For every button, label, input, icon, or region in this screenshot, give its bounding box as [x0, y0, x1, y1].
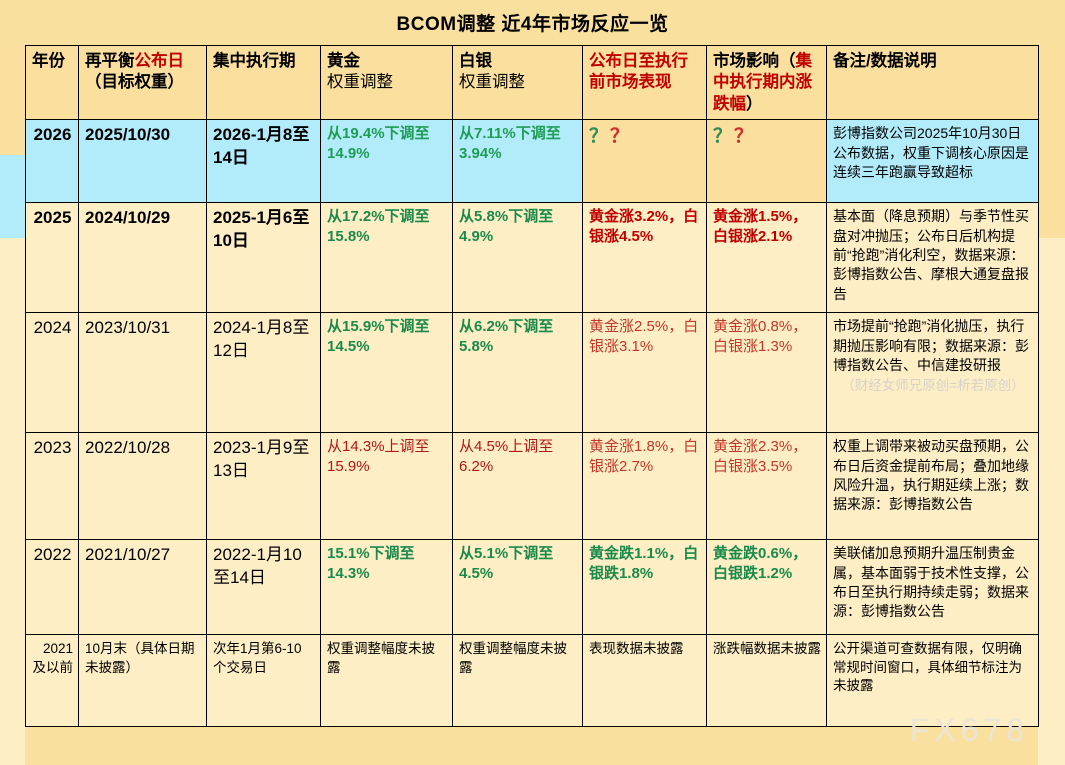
header-cell-pre-exec: 公布日至执行前市场表现	[583, 46, 707, 120]
gutter-strip-header	[0, 45, 25, 155]
table-row: 2024 2023/10/31 2024-1月8至12日 从15.9%下调至14…	[26, 313, 1039, 433]
cell-announce-date: 2024/10/29	[79, 203, 207, 313]
cell-impact: 黄金涨2.3%，白银涨3.5%	[707, 433, 827, 540]
cell-notes: 权重上调带来被动买盘预期，公布日后资金提前布局；叠加地缘风险升温，执行期延续上涨…	[827, 433, 1039, 540]
table-row: 2021及以前 10月末（具体日期未披露） 次年1月第6-10个交易日 权重调整…	[26, 635, 1039, 727]
cell-impact: 黄金涨0.8%，白银涨1.3%	[707, 313, 827, 433]
header-cell-silver: 白银权重调整	[453, 46, 583, 120]
cell-impact: ？？	[707, 120, 827, 203]
cell-notes: 彭博指数公司2025年10月30日公布数据，权重下调核心原因是连续三年跑赢导致超…	[827, 120, 1039, 203]
cell-silver-weight: 从5.1%下调至4.5%	[453, 540, 583, 635]
cell-year: 2025	[26, 203, 79, 313]
header-announce-red: 公布日	[135, 52, 185, 70]
cell-pre-exec: 黄金涨1.8%，白银涨2.7%	[583, 433, 707, 540]
gutter-strip-rest	[0, 238, 25, 765]
cell-silver-weight: 从5.8%下调至4.9%	[453, 203, 583, 313]
cell-pre-exec: 黄金跌1.1%，白银跌1.8%	[583, 540, 707, 635]
spreadsheet-area: 年份 再平衡公布日（目标权重） 集中执行期 黄金权重调整 白银权重调整 公布日至…	[0, 45, 1065, 765]
origin-watermark: （财经女师兄原创=析若原创）	[833, 377, 1033, 396]
cell-announce-date: 2023/10/31	[79, 313, 207, 433]
header-cell-gold: 黄金权重调整	[321, 46, 453, 120]
cell-exec-period: 2025-1月6至10日	[207, 203, 321, 313]
header-cell-year: 年份	[26, 46, 79, 120]
cell-gold-weight: 从17.2%下调至15.8%	[321, 203, 453, 313]
cell-year: 2023	[26, 433, 79, 540]
cell-silver-weight: 权重调整幅度未披露	[453, 635, 583, 727]
header-cell-announce-date: 再平衡公布日（目标权重）	[79, 46, 207, 120]
cell-notes: 市场提前“抢跑”消化抛压，执行期抛压影响有限；数据来源：彭博指数公告、中信建投研…	[827, 313, 1039, 433]
cell-pre-exec: 黄金涨3.2%，白银涨4.5%	[583, 203, 707, 313]
table-row: 2025 2024/10/29 2025-1月6至10日 从17.2%下调至15…	[26, 203, 1039, 313]
cell-gold-weight: 从15.9%下调至14.5%	[321, 313, 453, 433]
gutter-strip-right-rest	[1038, 238, 1065, 765]
cell-exec-period: 2023-1月9至13日	[207, 433, 321, 540]
header-cell-exec-period: 集中执行期	[207, 46, 321, 120]
cell-pre-exec: ？？	[583, 120, 707, 203]
cell-notes: 美联储加息预期升温压制贵金属，基本面弱于技术性支撑，公布日至执行期持续走弱；数据…	[827, 540, 1039, 635]
title-band: BCOM调整 近4年市场反应一览	[0, 0, 1065, 45]
table-row: 2022 2021/10/27 2022-1月10至14日 15.1%下调至14…	[26, 540, 1039, 635]
cell-announce-date: 2021/10/27	[79, 540, 207, 635]
cell-exec-period: 2022-1月10至14日	[207, 540, 321, 635]
cell-exec-period: 次年1月第6-10个交易日	[207, 635, 321, 727]
cell-year: 2026	[26, 120, 79, 203]
header-cell-impact: 市场影响（集中执行期内涨跌幅）	[707, 46, 827, 120]
header-silver-sub: 权重调整	[459, 72, 577, 93]
cell-year: 2024	[26, 313, 79, 433]
gutter-strip-2026	[0, 155, 25, 238]
cell-impact: 黄金跌0.6%，白银跌1.2%	[707, 540, 827, 635]
cell-impact: 黄金涨1.5%，白银涨2.1%	[707, 203, 827, 313]
cell-gold-weight: 从14.3%上调至15.9%	[321, 433, 453, 540]
table-row: 2023 2022/10/28 2023-1月9至13日 从14.3%上调至15…	[26, 433, 1039, 540]
cell-year: 2021及以前	[26, 635, 79, 727]
page-title: BCOM调整 近4年市场反应一览	[397, 9, 669, 36]
cell-year: 2022	[26, 540, 79, 635]
cell-impact: 涨跌幅数据未披露	[707, 635, 827, 727]
cell-pre-exec: 表现数据未披露	[583, 635, 707, 727]
market-reaction-table: 年份 再平衡公布日（目标权重） 集中执行期 黄金权重调整 白银权重调整 公布日至…	[25, 45, 1039, 727]
cell-announce-date: 2025/10/30	[79, 120, 207, 203]
header-cell-notes: 备注/数据说明	[827, 46, 1039, 120]
table-header-row: 年份 再平衡公布日（目标权重） 集中执行期 黄金权重调整 白银权重调整 公布日至…	[26, 46, 1039, 120]
gutter-strip-right-header	[1038, 45, 1065, 155]
cell-silver-weight: 从7.11%下调至3.94%	[453, 120, 583, 203]
cell-gold-weight: 15.1%下调至14.3%	[321, 540, 453, 635]
gutter-strip-right-2026	[1038, 155, 1065, 238]
cell-notes: 基本面（降息预期）与季节性买盘对冲抛压；公布日后机构提前“抢跑”消化利空，数据来…	[827, 203, 1039, 313]
cell-pre-exec: 黄金涨2.5%，白银涨3.1%	[583, 313, 707, 433]
table-row: 2026 2025/10/30 2026-1月8至14日 从19.4%下调至14…	[26, 120, 1039, 203]
cell-announce-date: 2022/10/28	[79, 433, 207, 540]
header-gold-sub: 权重调整	[327, 72, 447, 93]
cell-announce-date: 10月末（具体日期未披露）	[79, 635, 207, 727]
cell-gold-weight: 权重调整幅度未披露	[321, 635, 453, 727]
cell-exec-period: 2024-1月8至12日	[207, 313, 321, 433]
cell-gold-weight: 从19.4%下调至14.9%	[321, 120, 453, 203]
cell-notes: 公开渠道可查数据有限，仅明确常规时间窗口，具体细节标注为未披露	[827, 635, 1039, 727]
cell-silver-weight: 从6.2%下调至5.8%	[453, 313, 583, 433]
cell-silver-weight: 从4.5%上调至6.2%	[453, 433, 583, 540]
cell-exec-period: 2026-1月8至14日	[207, 120, 321, 203]
